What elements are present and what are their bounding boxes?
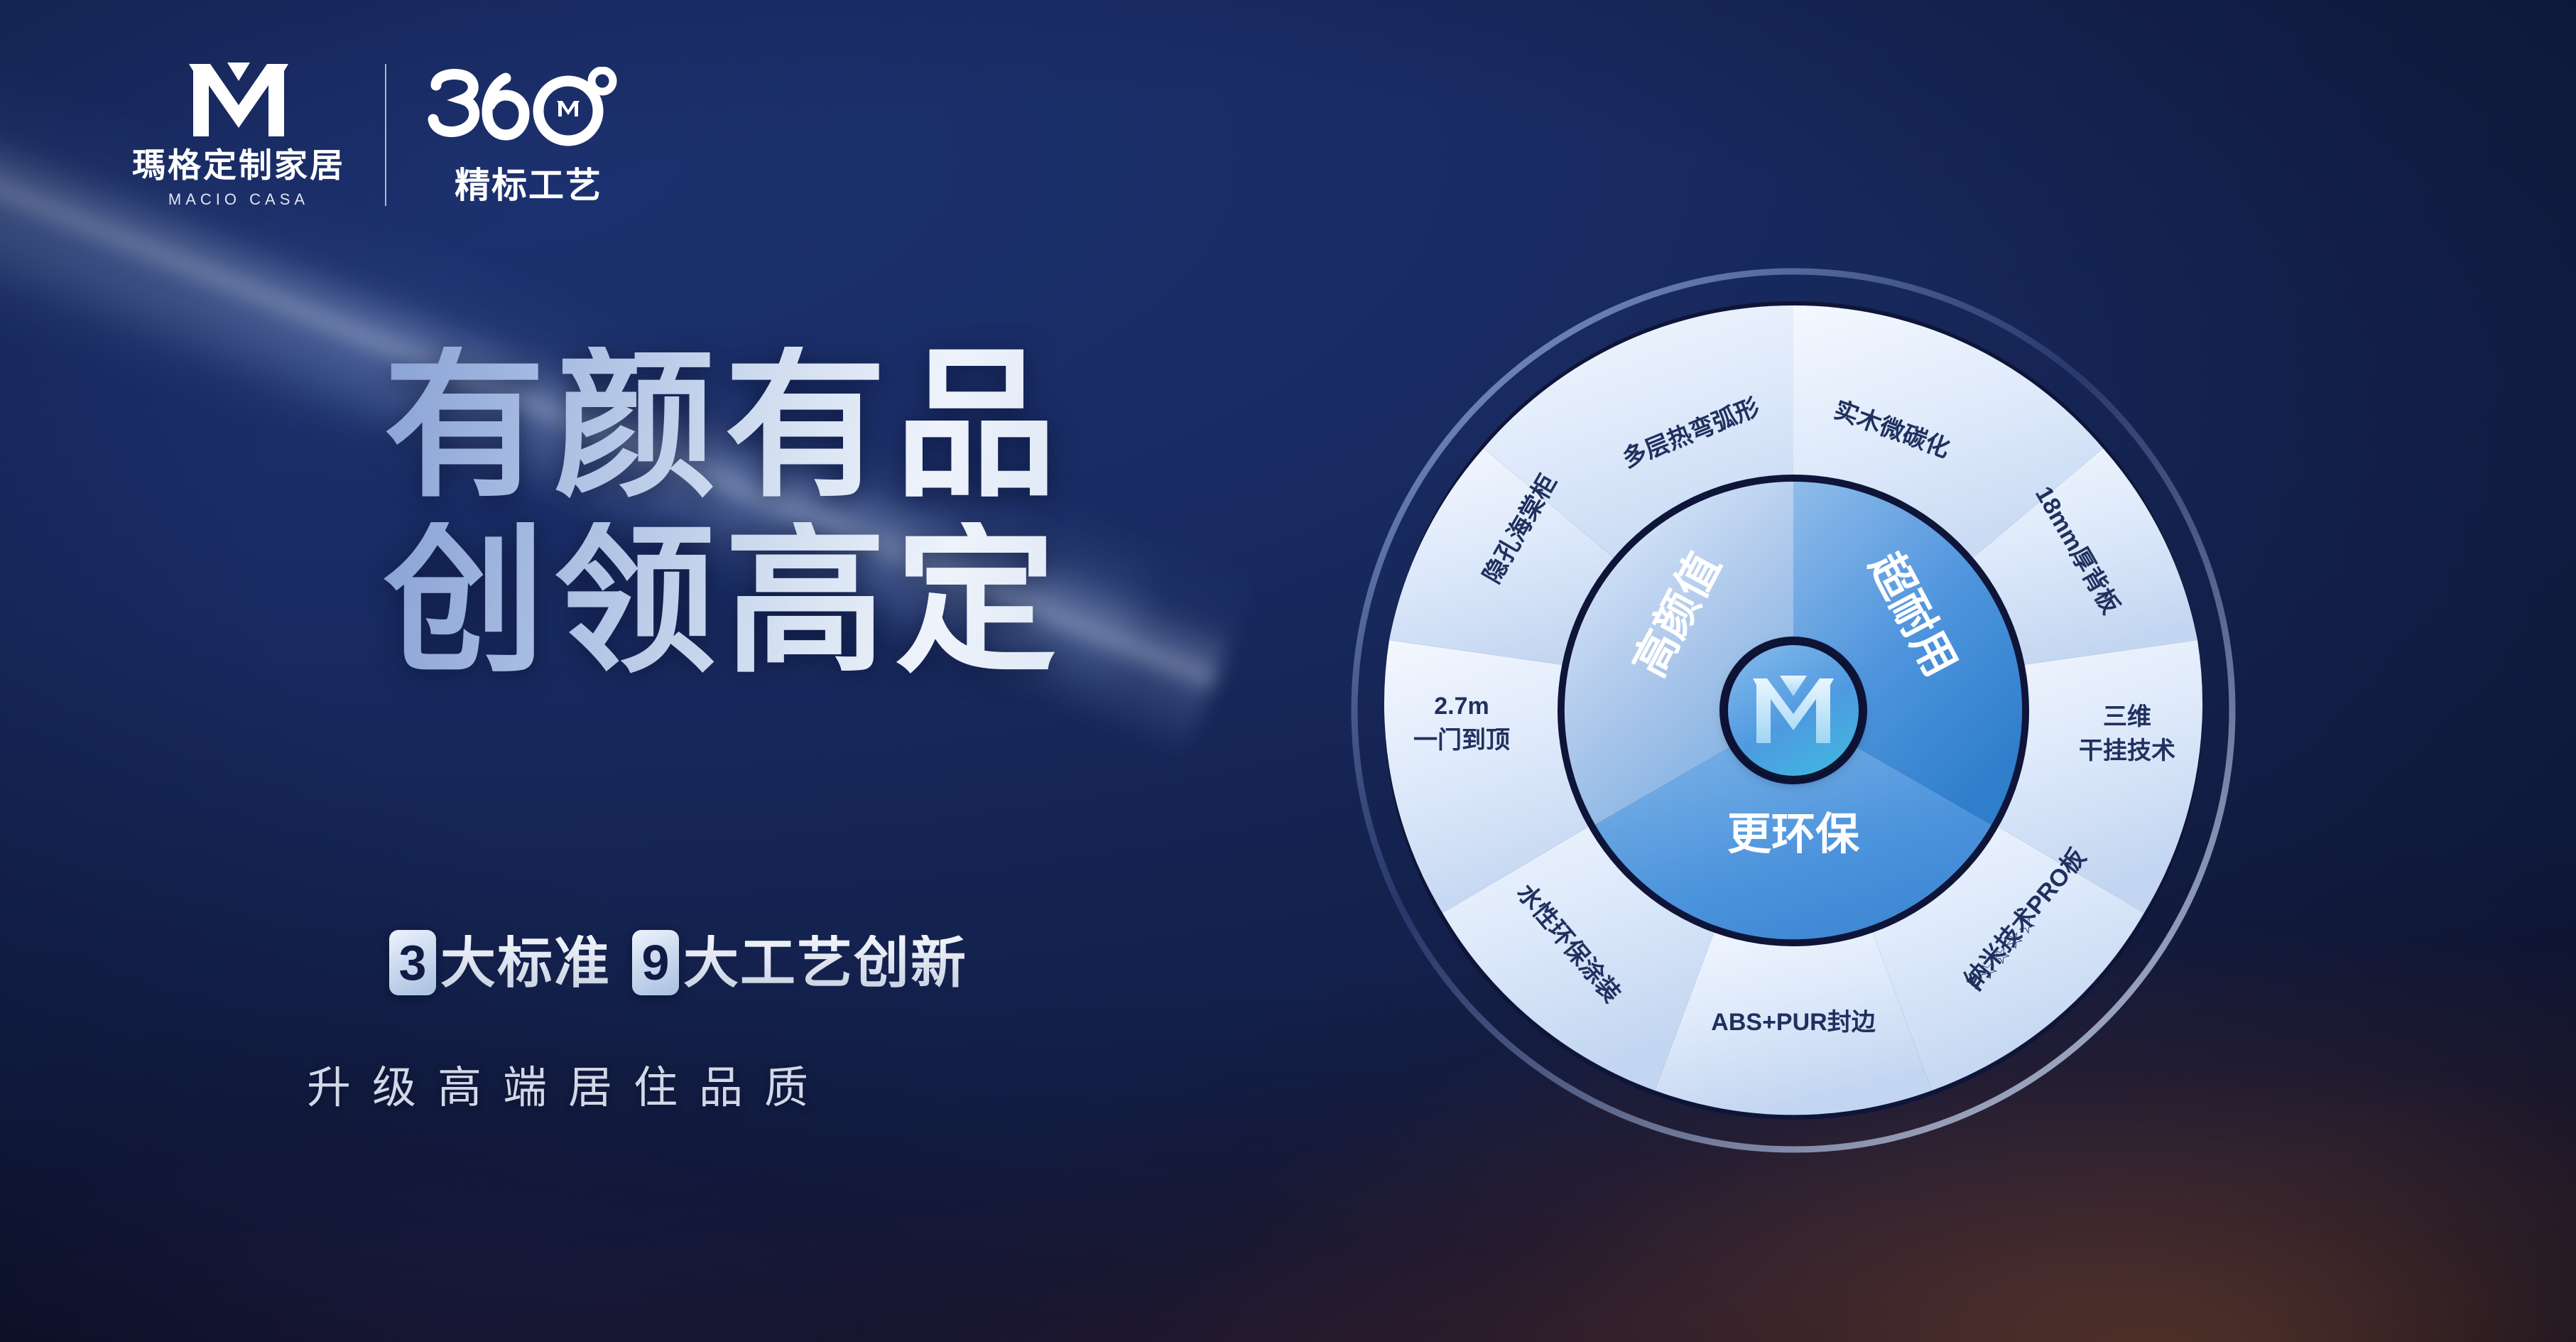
badge-360-icon (426, 67, 631, 163)
standards-line: 3 大标准 9 大工艺创新 (389, 930, 967, 995)
poster-canvas: 瑪格定制家居 MACIO CASA 精标工艺 有颜有品 创领高定 (0, 0, 2576, 1342)
crafts-count-badge: 9 (632, 930, 679, 995)
wheel-label-s3-line1: 三维 (2103, 703, 2151, 730)
wheel-svg: 实木微碳化 18mm厚背板 三维 干挂技术 纳米技术PRO板 F☆☆☆☆ ABS… (1349, 213, 2237, 1208)
crafts-label: 大工艺创新 (683, 935, 967, 990)
wheel-label-s5: ABS+PUR封边 (1711, 1009, 1875, 1036)
logo-divider (385, 64, 386, 206)
brand-360-sub: 精标工艺 (455, 168, 602, 203)
brand-primary-logo: 瑪格定制家居 MACIO CASA (132, 63, 345, 207)
wheel-center-badge[interactable] (1719, 637, 1867, 784)
tagline: 升级高端居住品质 (307, 1051, 830, 1115)
standards-count-badge: 3 (389, 930, 436, 995)
brand-name-en: MACIO CASA (168, 192, 309, 207)
wheel-label-s7-line1: 2.7m (1434, 693, 1489, 720)
wheel-inner-label-3: 更环保 (1727, 810, 1860, 859)
brand-360-logo: 精标工艺 (426, 67, 631, 203)
brand-name-cn: 瑪格定制家居 (132, 148, 345, 182)
brand-logo-block: 瑪格定制家居 MACIO CASA 精标工艺 (132, 63, 631, 207)
headline-line-1: 有颜有品 (384, 347, 1065, 505)
standards-label: 大标准 (440, 935, 611, 990)
capability-wheel-diagram: 实木微碳化 18mm厚背板 三维 干挂技术 纳米技术PRO板 F☆☆☆☆ ABS… (1349, 213, 2237, 1208)
badge-360-inner-m-icon (557, 101, 580, 117)
wheel-label-s3-line2: 干挂技术 (2079, 737, 2175, 764)
macio-m-monogram-icon (185, 63, 293, 138)
headline-line-2: 创领高定 (384, 522, 1065, 681)
wheel-label-s7-line2: 一门到顶 (1413, 727, 1510, 754)
headline: 有颜有品 创领高定 (384, 347, 1065, 681)
